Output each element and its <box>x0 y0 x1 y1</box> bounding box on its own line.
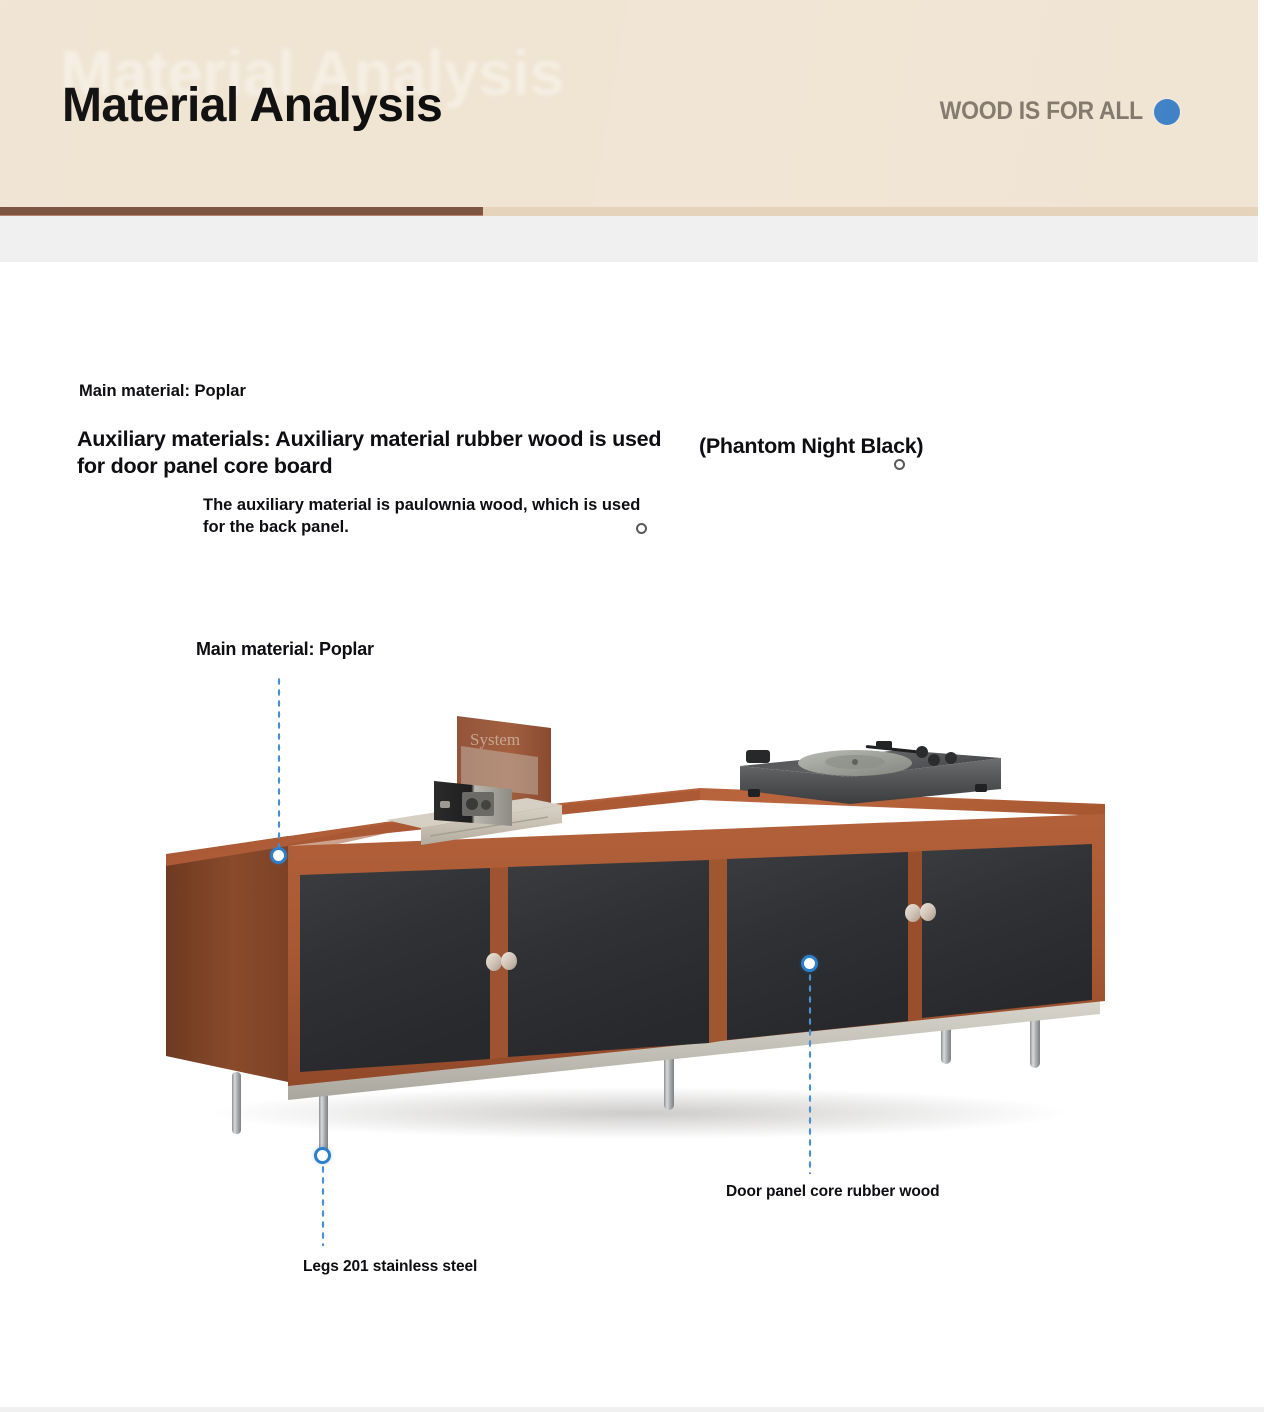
ring-marker-icon-door-panel[interactable] <box>801 955 818 972</box>
door-panel-3 <box>727 852 908 1040</box>
callout-label-door-panel: Door panel core rubber wood <box>726 1183 939 1201</box>
door-panel-2 <box>508 860 709 1057</box>
turntable <box>740 741 1001 804</box>
spec-auxiliary-materials: Auxiliary materials: Auxiliary material … <box>77 426 677 480</box>
small-ring-icon-finish <box>894 459 905 470</box>
spec-paulownia-note: The auxiliary material is paulownia wood… <box>203 495 643 539</box>
leader-line-door-panel <box>808 972 812 1174</box>
decor-left-group: System <box>386 716 562 845</box>
floor-shadow <box>210 1087 1070 1139</box>
camera-lens-icon <box>466 798 478 810</box>
callout-label-poplar: Main material: Poplar <box>196 639 374 660</box>
slide-page: Material Analysis Material Analysis WOOD… <box>0 0 1264 1412</box>
leader-line-poplar <box>277 676 281 850</box>
ring-marker-icon-poplar[interactable] <box>270 847 287 864</box>
turntable-hinge <box>746 750 770 763</box>
page-bottom-edge <box>0 1407 1264 1412</box>
book-title-text: System <box>470 730 520 749</box>
door-divider-3 <box>908 851 922 1021</box>
door-panel-1 <box>300 868 490 1072</box>
left-side-panel <box>166 836 288 1082</box>
small-ring-icon-paulownia <box>636 523 647 534</box>
ring-marker-icon-legs[interactable] <box>314 1147 331 1164</box>
door-divider-2 <box>709 859 727 1043</box>
door-panel-4 <box>922 844 1092 1018</box>
callout-label-legs: Legs 201 stainless steel <box>303 1258 477 1276</box>
spec-finish-name: (Phantom Night Black) <box>699 431 923 462</box>
product-illustration: System <box>0 0 1264 1412</box>
leader-line-legs <box>321 1164 325 1246</box>
spec-main-material-top: Main material: Poplar <box>79 382 246 401</box>
